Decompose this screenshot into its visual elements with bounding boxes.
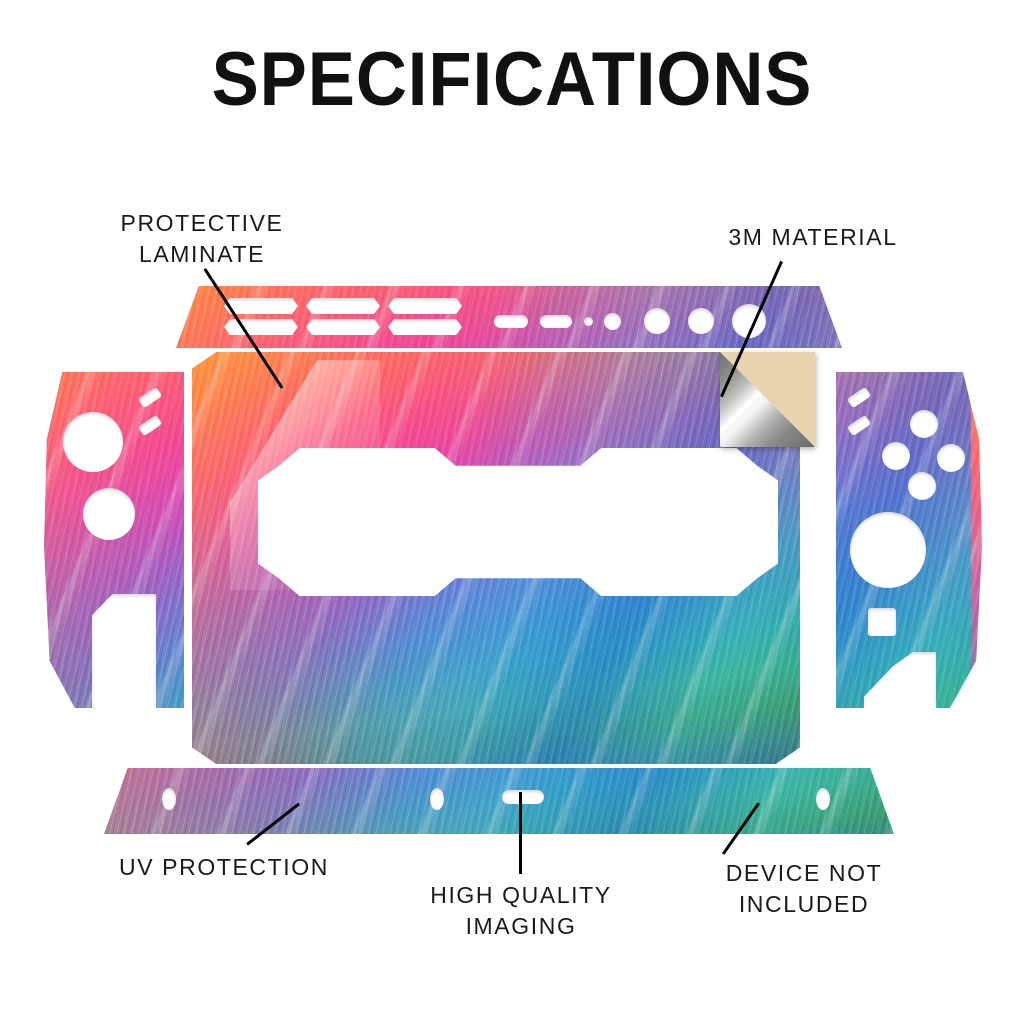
connector-slot-cutout <box>502 790 544 804</box>
screw-hole-cutout <box>430 788 444 810</box>
vent-slot <box>306 298 380 314</box>
label-device-not-included: DEVICE NOT INCLUDED <box>688 858 920 919</box>
vent-slot <box>388 298 462 314</box>
label-uv-protection: UV PROTECTION <box>78 852 370 883</box>
analog-stick-cutout <box>850 512 926 588</box>
port-cutout <box>688 308 714 334</box>
analog-stick-cutout <box>63 412 123 472</box>
vent-slot <box>306 319 380 335</box>
label-3m-material: 3M MATERIAL <box>672 222 954 253</box>
specification-sheet: SPECIFICATIONS <box>0 0 1024 1024</box>
port-cutout <box>604 313 621 330</box>
vent-slot <box>388 319 462 335</box>
label-protective-laminate: PROTECTIVE LAMINATE <box>62 208 342 269</box>
skin-piece-bottom-strip[interactable] <box>104 768 894 834</box>
screw-hole-cutout <box>162 788 176 810</box>
page-title: SPECIFICATIONS <box>36 42 988 118</box>
skin-artwork-bottom <box>104 768 894 834</box>
grip-notch-cutout <box>92 594 156 708</box>
face-button-cutout <box>937 444 965 472</box>
port-cutout <box>540 315 572 328</box>
button-cutout <box>83 488 135 540</box>
vent-slot <box>224 298 298 314</box>
vent-slot <box>224 319 298 335</box>
face-button-cutout <box>910 410 938 438</box>
label-high-quality-imaging: HIGH QUALITY IMAGING <box>392 880 650 941</box>
port-cutout <box>494 315 528 328</box>
face-button-cutout <box>908 472 936 500</box>
skin-piece-right-grip[interactable] <box>836 372 982 708</box>
face-button-cutout <box>882 442 910 470</box>
leader-line-high-quality-imaging <box>519 792 522 874</box>
skin-piece-left-grip[interactable] <box>44 372 184 708</box>
screw-hole-cutout <box>816 788 830 810</box>
port-cutout <box>584 317 593 326</box>
port-cutout <box>644 308 670 334</box>
screen-window-cutout <box>258 448 778 596</box>
skin-piece-top-strip[interactable] <box>176 286 842 348</box>
square-button-cutout <box>868 608 896 636</box>
